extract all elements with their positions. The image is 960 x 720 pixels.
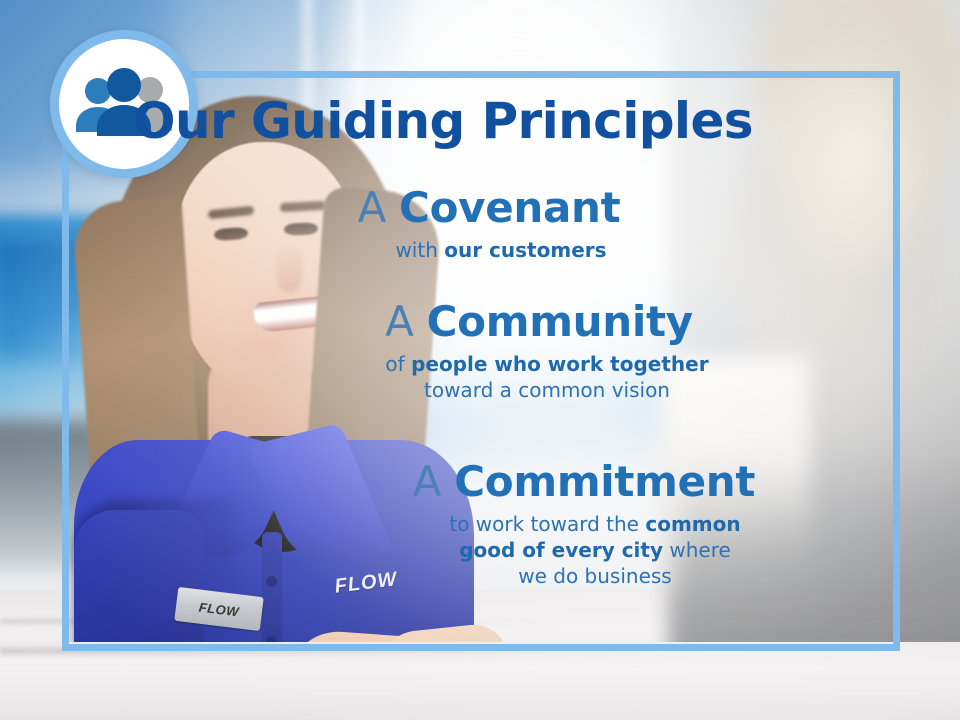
guiding-principles-badge <box>50 30 198 178</box>
poster-canvas: FLOW FLOW <box>0 0 960 720</box>
people-group-icon <box>70 67 178 141</box>
subject-nose <box>276 246 302 292</box>
subject-chin <box>234 338 304 374</box>
employee-name-badge-label: FLOW <box>198 599 240 619</box>
blurred-customer-hair <box>740 0 950 330</box>
subject-shirt-button <box>266 576 277 587</box>
desk-edge <box>0 648 700 654</box>
